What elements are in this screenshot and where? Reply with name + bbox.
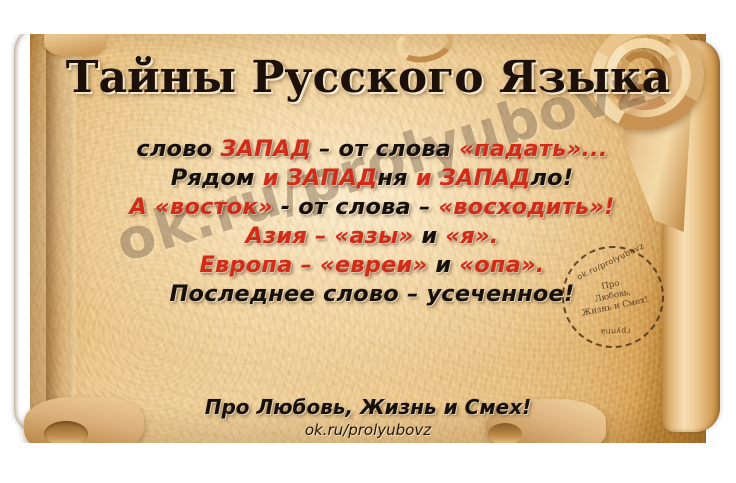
torn-notch xyxy=(593,455,624,483)
line-5-part-1: и xyxy=(435,252,459,278)
line-3: А «восток» - от слова – «восходить»! xyxy=(70,193,674,222)
line-3-part-1: - от слова – xyxy=(273,194,439,220)
torn-notch xyxy=(526,0,570,26)
torn-notch xyxy=(131,0,158,13)
torn-notch xyxy=(16,474,40,483)
torn-notch xyxy=(707,0,736,10)
torn-notch xyxy=(288,0,326,18)
footer-url: ok.ru/prolyubovz xyxy=(0,421,736,439)
line-2-part-3: ня xyxy=(377,165,415,191)
torn-notch xyxy=(343,0,368,20)
torn-notch xyxy=(326,464,343,483)
torn-notch xyxy=(663,475,681,483)
torn-notch xyxy=(593,0,624,28)
torn-edge-top xyxy=(0,0,736,34)
line-2-part-2: ЗАПАД xyxy=(287,165,378,191)
torn-notch xyxy=(0,475,16,483)
torn-notch xyxy=(236,467,258,483)
torn-notch xyxy=(158,0,193,14)
line-1-part-0: слово xyxy=(136,136,220,162)
torn-notch xyxy=(681,0,707,9)
scroll-poster: ok.ru/prolyubovz Тайны Русского Языка сл… xyxy=(0,0,736,483)
line-4-part-1: и xyxy=(421,223,445,249)
line-2: Рядом и ЗАПАДня и ЗАПАДло! xyxy=(70,164,674,193)
torn-notch xyxy=(258,466,288,483)
torn-notch xyxy=(40,0,72,10)
line-2-part-5: ЗАПАД xyxy=(440,165,531,191)
line-4: Азия – «азы» и «я». xyxy=(70,222,674,251)
torn-notch xyxy=(343,463,368,483)
torn-notch xyxy=(40,473,72,483)
torn-notch xyxy=(490,0,526,25)
line-2-part-4: и xyxy=(416,165,440,191)
torn-notch xyxy=(236,0,258,16)
torn-notch xyxy=(570,456,593,483)
torn-notch xyxy=(570,0,593,27)
torn-notch xyxy=(258,0,288,17)
torn-notch xyxy=(663,0,681,8)
torn-notch xyxy=(624,454,663,483)
torn-notch xyxy=(0,0,16,8)
line-1-part-3: «падать»... xyxy=(459,136,607,162)
torn-notch xyxy=(368,0,401,21)
torn-notch xyxy=(401,461,442,483)
line-2-part-0: Рядом xyxy=(171,165,263,191)
torn-notch xyxy=(368,462,401,483)
torn-notch xyxy=(131,470,158,483)
line-5-part-2: «опа». xyxy=(459,252,544,278)
line-1-part-2: – от слова xyxy=(311,136,459,162)
torn-notch xyxy=(193,0,236,15)
torn-notch xyxy=(442,0,462,23)
line-4-part-0: Азия – «азы» xyxy=(246,223,422,249)
torn-notch xyxy=(401,0,442,22)
torn-notch xyxy=(326,0,343,19)
line-5-part-0: Европа – «евреи» xyxy=(199,252,435,278)
line-4-part-2: «я». xyxy=(445,223,498,249)
torn-notch xyxy=(624,0,663,29)
page-title: Тайны Русского Языка xyxy=(0,52,736,103)
line-3-part-2: «восходить»! xyxy=(438,194,614,220)
torn-notch xyxy=(707,473,736,483)
line-6-part-0: Последнее слово – усеченное! xyxy=(170,281,575,307)
line-2-part-6: ло! xyxy=(531,165,574,191)
line-1-part-1: ЗАПАД xyxy=(220,136,311,162)
torn-notch xyxy=(462,459,490,483)
torn-notch xyxy=(193,468,236,483)
torn-notch xyxy=(72,472,112,483)
torn-notch xyxy=(112,0,131,12)
torn-notch xyxy=(526,457,570,483)
torn-notch xyxy=(72,0,112,11)
torn-notch xyxy=(681,474,707,483)
torn-edge-bottom xyxy=(0,443,736,483)
torn-notch xyxy=(158,469,193,483)
line-1: слово ЗАПАД – от слова «падать»... xyxy=(70,135,674,164)
torn-notch xyxy=(112,471,131,483)
torn-notch xyxy=(442,460,462,483)
torn-notch xyxy=(490,458,526,483)
torn-notch xyxy=(288,465,326,483)
line-3-part-0: А «восток» xyxy=(129,194,272,220)
torn-notch xyxy=(462,0,490,24)
footer: Про Любовь, Жизнь и Смех! ok.ru/prolyubo… xyxy=(0,395,736,439)
footer-title: Про Любовь, Жизнь и Смех! xyxy=(0,395,736,419)
torn-notch xyxy=(16,0,40,9)
line-2-part-1: и xyxy=(263,165,287,191)
